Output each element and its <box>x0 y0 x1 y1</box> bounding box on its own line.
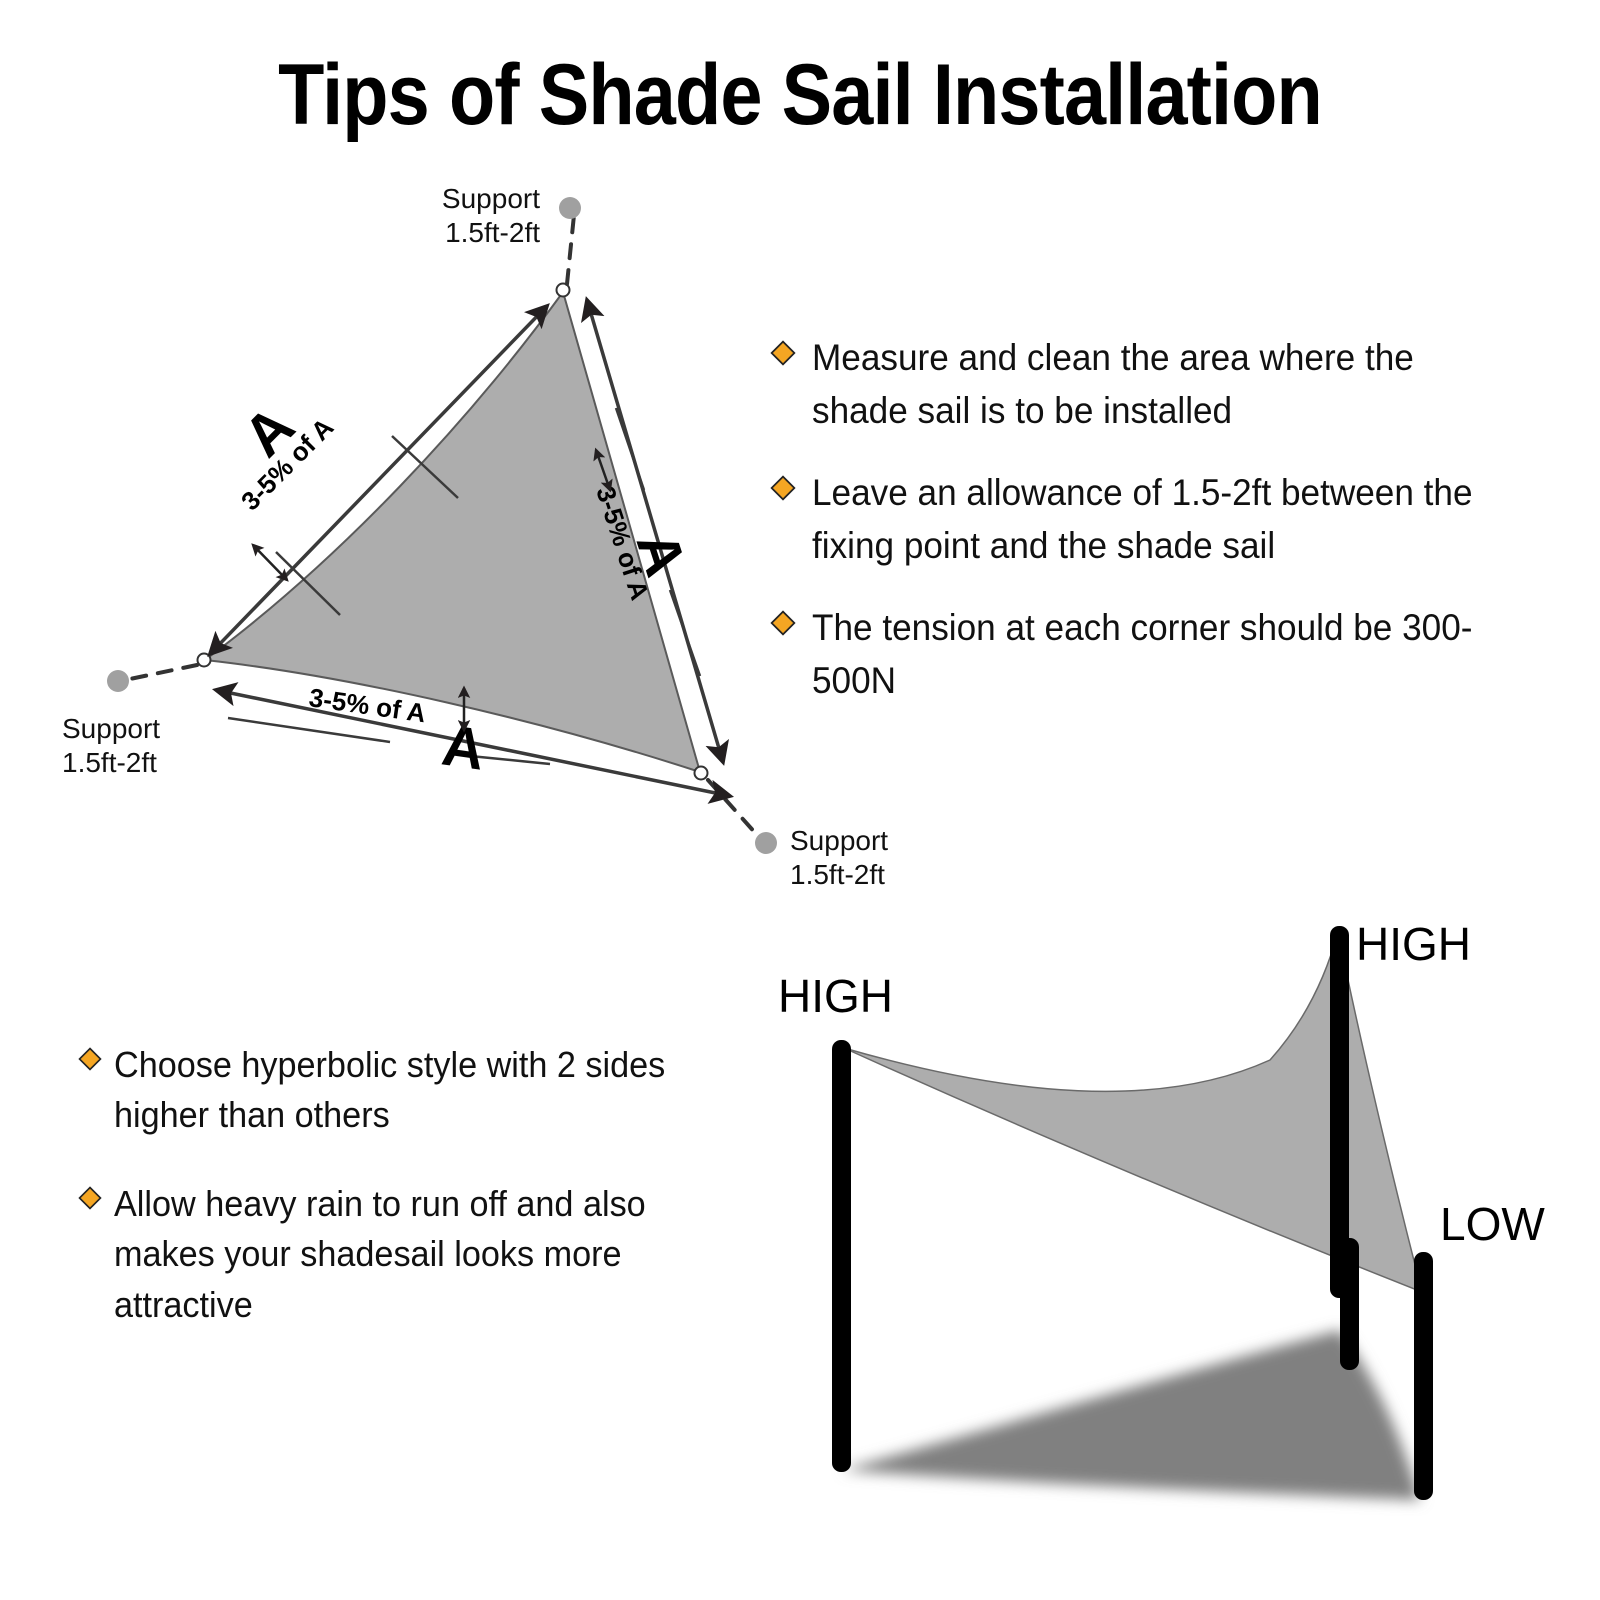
list-item: The tension at each corner should be 300… <box>770 602 1550 707</box>
support-left-line2: 1.5ft-2ft <box>62 747 157 778</box>
list-item-label: Leave an allowance of 1.5-2ft between th… <box>812 467 1513 572</box>
diamond-icon <box>770 340 796 366</box>
post-middle-short <box>1340 1238 1359 1370</box>
list-item-label: Choose hyperbolic style with 2 sides hig… <box>114 1040 745 1141</box>
list-item-label: Measure and clean the area where the sha… <box>812 332 1513 437</box>
diamond-icon <box>78 1186 102 1210</box>
diamond-icon <box>78 1047 102 1071</box>
list-item-label: Allow heavy rain to run off and also mak… <box>114 1179 745 1330</box>
post-label-left-high: HIGH <box>778 970 893 1022</box>
post-right-low <box>1414 1252 1433 1500</box>
ground-shadow <box>842 1330 1420 1500</box>
post-label-right-low: LOW <box>1440 1198 1545 1250</box>
support-br-line2: 1.5ft-2ft <box>790 859 885 890</box>
post-left-high <box>832 1040 851 1472</box>
tips-list-right: Measure and clean the area where the sha… <box>770 332 1550 737</box>
support-top-line2: 1.5ft-2ft <box>445 217 540 248</box>
hyperbolic-shade-sail-diagram: HIGH HIGH LOW <box>760 900 1590 1540</box>
list-item: Leave an allowance of 1.5-2ft between th… <box>770 467 1550 572</box>
corner-grommet-bottom-right <box>695 767 708 780</box>
post-label-top-right-high: HIGH <box>1356 918 1471 970</box>
curve-depth-arrow-left <box>253 545 287 580</box>
corner-grommet-left <box>198 654 211 667</box>
support-br-line1: Support <box>790 825 888 856</box>
support-top-line1: Support <box>442 183 540 214</box>
list-item: Choose hyperbolic style with 2 sides hig… <box>78 1040 778 1141</box>
list-item-label: The tension at each corner should be 300… <box>812 602 1513 707</box>
page-title: Tips of Shade Sail Installation <box>96 46 1504 145</box>
diamond-icon <box>770 475 796 501</box>
list-item: Allow heavy rain to run off and also mak… <box>78 1179 778 1330</box>
support-label-top: Support 1.5ft-2ft <box>442 183 540 248</box>
support-label-bottom-right: Support 1.5ft-2ft <box>790 825 888 890</box>
support-label-left: Support 1.5ft-2ft <box>62 713 160 778</box>
tips-list-left: Choose hyperbolic style with 2 sides hig… <box>78 1040 778 1368</box>
support-left-line1: Support <box>62 713 160 744</box>
list-item: Measure and clean the area where the sha… <box>770 332 1550 437</box>
diamond-icon <box>770 610 796 636</box>
